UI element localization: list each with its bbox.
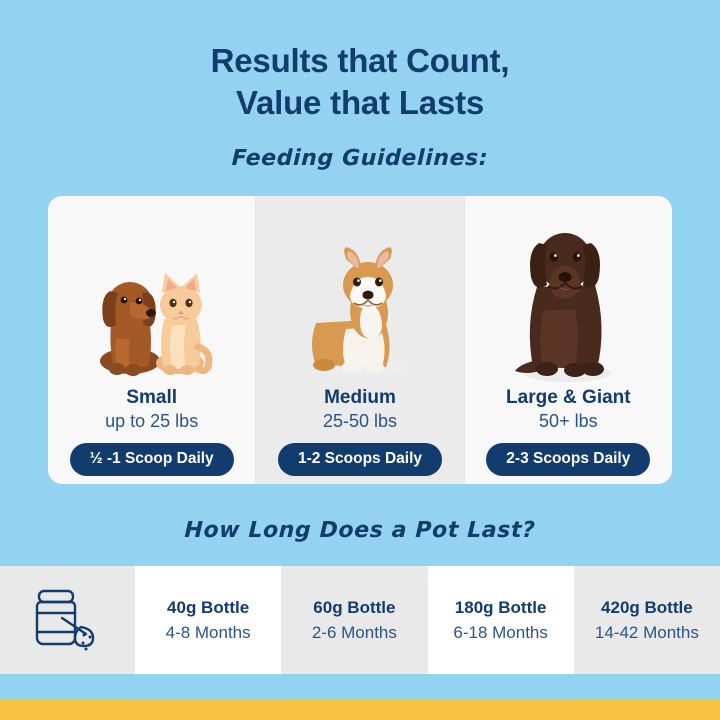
page-title-line-1: Results that Count, (0, 40, 720, 82)
bottle-duration: 14-42 Months (595, 623, 699, 643)
size-name: Large & Giant (506, 387, 631, 409)
scoop-badge-large: 2-3 Scoops Daily (486, 443, 650, 476)
pot-table-icon-cell (0, 566, 135, 674)
feeding-guidelines-card: Small up to 25 lbs ½ -1 Scoop Daily (48, 196, 672, 484)
pot-table-cell-40g: 40g Bottle 4-8 Months (135, 566, 281, 674)
bottle-size: 40g Bottle (167, 598, 249, 618)
labrador-dog-photo (465, 208, 672, 383)
jar-with-scoop-icon (31, 587, 105, 653)
size-weight: 50+ lbs (539, 411, 598, 432)
scoop-badge-medium: 1-2 Scoops Daily (278, 443, 442, 476)
pot-table-cell-60g: 60g Bottle 2-6 Months (281, 566, 427, 674)
bottom-blue-strip (0, 674, 720, 700)
feeding-guidelines-heading: Feeding Guidelines: (0, 146, 720, 171)
dog-and-cat-photo (48, 208, 255, 383)
pot-duration-table: 40g Bottle 4-8 Months 60g Bottle 2-6 Mon… (0, 566, 720, 674)
size-name: Small (126, 387, 177, 409)
bottle-size: 60g Bottle (313, 598, 395, 618)
feeding-column-large: Large & Giant 50+ lbs 2-3 Scoops Daily (464, 196, 672, 484)
scoop-badge-small: ½ -1 Scoop Daily (70, 443, 234, 476)
bottle-duration: 6-18 Months (453, 623, 548, 643)
bottle-size: 180g Bottle (455, 598, 547, 618)
bottle-duration: 4-8 Months (166, 623, 251, 643)
size-name: Medium (324, 387, 396, 409)
pot-table-cell-420g: 420g Bottle 14-42 Months (574, 566, 720, 674)
corgi-dog-photo (256, 208, 463, 383)
pot-duration-heading: How Long Does a Pot Last? (0, 518, 720, 543)
pot-table-cell-180g: 180g Bottle 6-18 Months (428, 566, 574, 674)
size-weight: up to 25 lbs (105, 411, 198, 432)
bottle-size: 420g Bottle (601, 598, 693, 618)
page-title-line-2: Value that Lasts (0, 82, 720, 124)
feeding-column-small: Small up to 25 lbs ½ -1 Scoop Daily (48, 196, 255, 484)
bottom-gold-strip (0, 700, 720, 720)
size-weight: 25-50 lbs (323, 411, 397, 432)
feeding-column-medium: Medium 25-50 lbs 1-2 Scoops Daily (255, 196, 463, 484)
bottle-duration: 2-6 Months (312, 623, 397, 643)
page-title: Results that Count, Value that Lasts (0, 0, 720, 124)
